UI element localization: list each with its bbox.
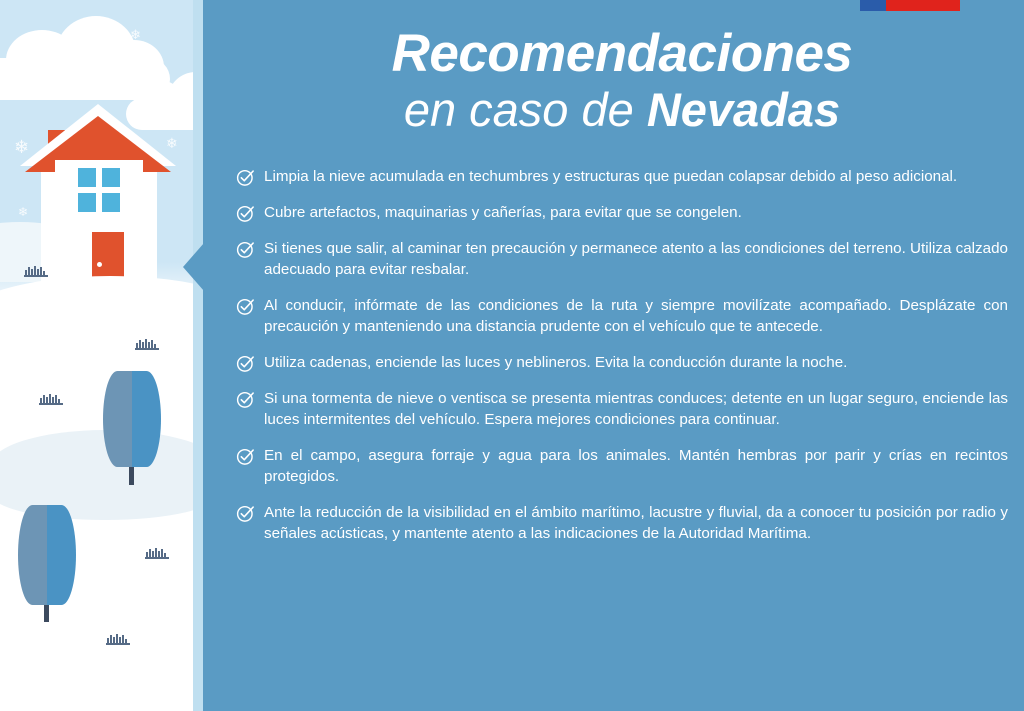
bush-icon: [105, 632, 131, 650]
flag-red-block: [886, 0, 960, 11]
list-item-text: Ante la reducción de la visibilidad en e…: [264, 502, 1008, 544]
tree-crown-left: [18, 505, 47, 605]
list-item-text: Al conducir, infórmate de las condicione…: [264, 295, 1008, 337]
check-circle-icon: [236, 390, 255, 409]
check-circle-icon: [236, 354, 255, 373]
list-item-text: Utiliza cadenas, enciende las luces y ne…: [264, 352, 1008, 373]
title-line-2: en caso de Nevadas: [236, 84, 1008, 137]
list-item: Si una tormenta de nieve o ventisca se p…: [236, 388, 1008, 430]
list-item: En el campo, asegura forraje y agua para…: [236, 445, 1008, 487]
page-title: Recomendaciones en caso de Nevadas: [236, 26, 1008, 136]
check-circle-icon: [236, 504, 255, 523]
flag-blue-block: [860, 0, 886, 11]
recommendation-list: Limpia la nieve acumulada en techumbres …: [236, 166, 1008, 559]
tree-crown-right: [132, 371, 161, 467]
panel-arrow-notch: [183, 243, 204, 291]
list-item-text: En el campo, asegura forraje y agua para…: [264, 445, 1008, 487]
window-mullion-horizontal: [78, 187, 120, 193]
list-item: Si tienes que salir, al caminar ten prec…: [236, 238, 1008, 280]
check-circle-icon: [236, 297, 255, 316]
list-item: Limpia la nieve acumulada en techumbres …: [236, 166, 1008, 187]
bush-icon: [38, 392, 64, 410]
list-item: Utiliza cadenas, enciende las luces y ne…: [236, 352, 1008, 373]
bush-icon: [144, 546, 170, 564]
title-line-1: Recomendaciones: [236, 26, 1008, 82]
list-item: Al conducir, infórmate de las condicione…: [236, 295, 1008, 337]
list-item: Ante la reducción de la visibilidad en e…: [236, 502, 1008, 544]
list-item-text: Limpia la nieve acumulada en techumbres …: [264, 166, 1008, 187]
check-circle-icon: [236, 240, 255, 259]
check-circle-icon: [236, 204, 255, 223]
check-circle-icon: [236, 168, 255, 187]
snowflake-icon: ❄: [18, 206, 28, 218]
list-item-text: Si una tormenta de nieve o ventisca se p…: [264, 388, 1008, 430]
snowflake-icon: ❄: [62, 88, 74, 102]
snowflake-icon: ❄: [22, 78, 38, 97]
chile-flag-bar: [860, 0, 960, 11]
title-line-2-bold: Nevadas: [647, 83, 840, 136]
door-knob: [97, 262, 102, 267]
tree-crown-left: [103, 371, 132, 467]
winter-illustration: ❄ ❄ ❄ ❄ ❄ ❄ ❄ ❄: [0, 0, 210, 711]
check-circle-icon: [236, 447, 255, 466]
list-item-text: Cubre artefactos, maquinarias y cañerías…: [264, 202, 1008, 223]
snowflake-icon: ❄: [130, 28, 141, 41]
bush-icon: [23, 264, 49, 282]
list-item: Cubre artefactos, maquinarias y cañerías…: [236, 202, 1008, 223]
poster: ❄ ❄ ❄ ❄ ❄ ❄ ❄ ❄: [0, 0, 1024, 711]
list-item-text: Si tienes que salir, al caminar ten prec…: [264, 238, 1008, 280]
snowflake-icon: ❄: [98, 72, 113, 90]
tree-crown-right: [47, 505, 76, 605]
title-line-2-light: en caso de: [404, 83, 647, 136]
bush-icon: [134, 337, 160, 355]
